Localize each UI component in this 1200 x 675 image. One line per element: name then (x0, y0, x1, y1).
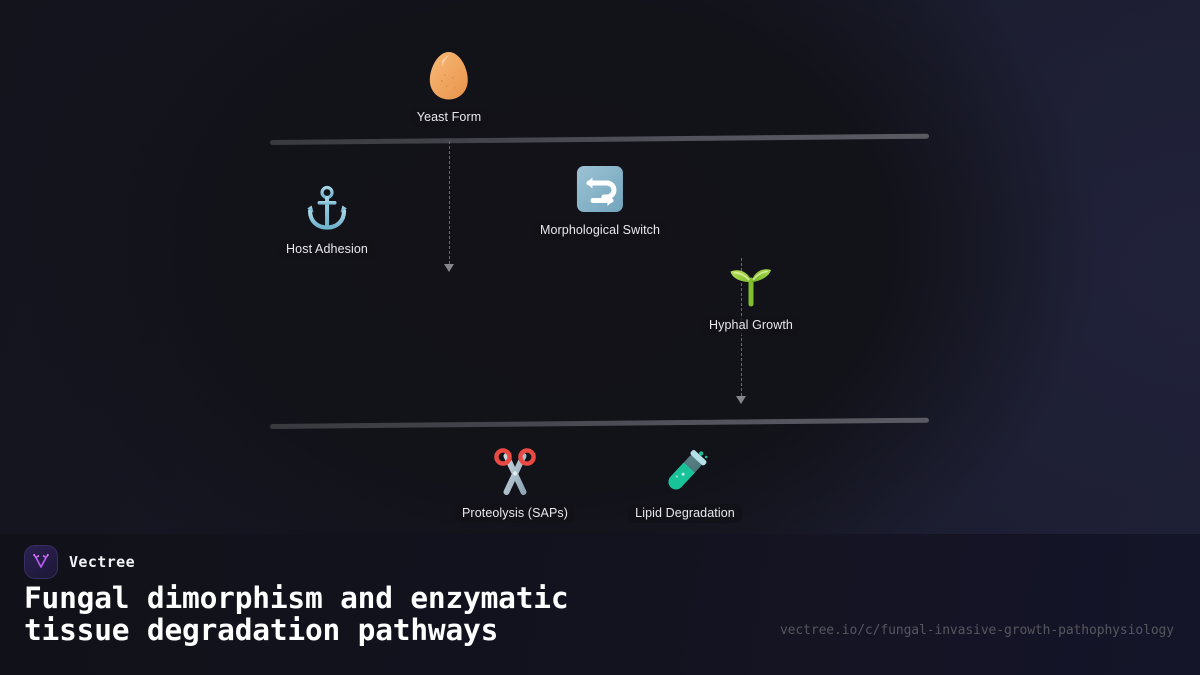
brand: Vectree (24, 545, 135, 579)
footer-bar: Vectree Fungal dimorphism and enzymatic … (0, 534, 1200, 675)
node-host-adhesion[interactable]: Host Adhesion (279, 182, 375, 259)
node-label-hyphal-growth: Hyphal Growth (702, 316, 800, 335)
scissors-icon (489, 446, 541, 498)
node-label-yeast-form: Yeast Form (410, 108, 488, 127)
node-proteolysis-saps[interactable]: Proteolysis (SAPs) (455, 446, 575, 523)
egg-icon (423, 50, 475, 102)
node-yeast-form[interactable]: Yeast Form (410, 50, 488, 127)
connector-yeast-to-host (449, 141, 450, 264)
node-label-lipid-degradation: Lipid Degradation (628, 504, 742, 523)
diagram-canvas: Yeast Form Host Adhesion Morphological S… (0, 0, 1200, 534)
connector-hyphal-to-enzymes-arrowhead (736, 396, 746, 404)
vectree-logo-icon (24, 545, 58, 579)
node-hyphal-growth[interactable]: Hyphal Growth (702, 258, 800, 335)
brand-name: Vectree (69, 553, 135, 571)
node-lipid-degradation[interactable]: Lipid Degradation (628, 446, 742, 523)
anchor-icon (301, 182, 353, 234)
source-url: vectree.io/c/fungal-invasive-growth-path… (780, 623, 1174, 638)
node-label-morphological-switch: Morphological Switch (533, 221, 667, 240)
node-morphological-switch[interactable]: Morphological Switch (533, 163, 667, 240)
headline-title: Fungal dimorphism and enzymatic tissue d… (24, 582, 764, 646)
connector-yeast-to-host-arrowhead (444, 264, 454, 272)
seedling-icon (725, 258, 777, 310)
node-label-host-adhesion: Host Adhesion (279, 240, 375, 259)
node-label-proteolysis-saps: Proteolysis (SAPs) (455, 504, 575, 523)
slide-root: Yeast Form Host Adhesion Morphological S… (0, 0, 1200, 675)
divider-lower (270, 418, 929, 429)
test-tube-icon (659, 446, 711, 498)
divider-upper (270, 134, 929, 145)
arrows-counterclockwise-icon (574, 163, 626, 215)
